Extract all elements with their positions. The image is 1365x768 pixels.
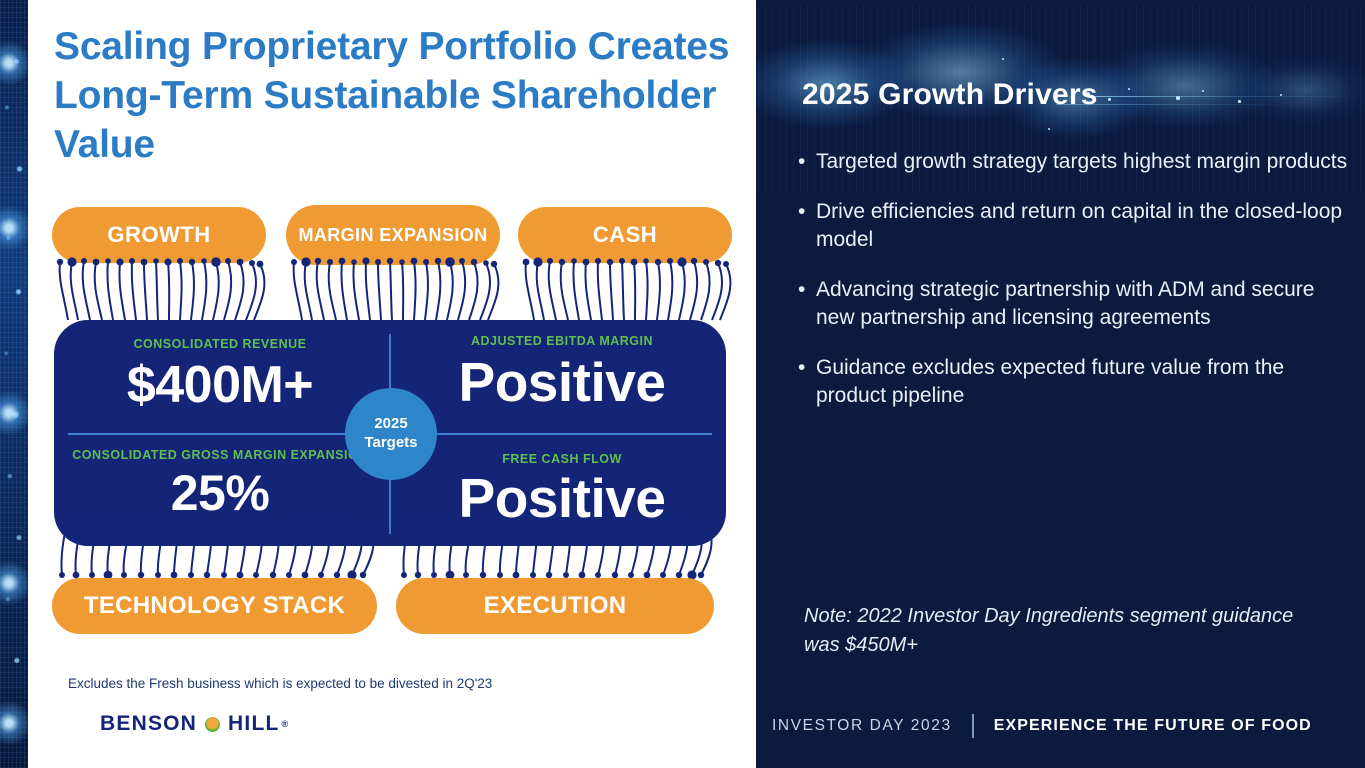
right-panel: 2025 Growth Drivers • Targeted growth st… xyxy=(756,0,1365,768)
metric-value: 25% xyxy=(60,464,380,522)
driver-pill-label: MARGIN EXPANSION xyxy=(298,225,487,245)
bullet-icon: • xyxy=(798,276,816,332)
driver-pill-label: CASH xyxy=(593,223,657,248)
sparkle-icon xyxy=(1176,96,1180,100)
list-item: • Targeted growth strategy targets highe… xyxy=(798,148,1354,176)
list-item-text: Guidance excludes expected future value … xyxy=(816,354,1354,410)
targets-badge-year: 2025 xyxy=(374,415,407,434)
page-title: Scaling Proprietary Portfolio Creates Lo… xyxy=(54,22,744,169)
list-item-text: Advancing strategic partnership with ADM… xyxy=(816,276,1354,332)
list-item-text: Targeted growth strategy targets highest… xyxy=(816,148,1354,176)
footer-event-label: INVESTOR DAY 2023 xyxy=(772,717,952,735)
company-logo: BENSON HILL ® xyxy=(100,712,289,736)
logo-word-hill: HILL xyxy=(228,712,279,736)
list-item: • Drive efficiencies and return on capit… xyxy=(798,198,1354,254)
root-tendrils-icon xyxy=(52,256,266,322)
driver-pill-label: TECHNOLOGY STACK xyxy=(84,593,345,620)
metric-value: $400M+ xyxy=(60,355,380,415)
targets-badge-label: Targets xyxy=(364,434,417,453)
sparkle-icon xyxy=(1238,100,1241,103)
slide-footer: INVESTOR DAY 2023 EXPERIENCE THE FUTURE … xyxy=(772,714,1312,738)
sparkle-icon xyxy=(1128,88,1130,90)
logo-registered-mark: ® xyxy=(282,719,290,729)
logo-seed-icon xyxy=(205,717,220,732)
targets-badge: 2025 Targets xyxy=(345,388,437,480)
metric-free-cash-flow: FREE CASH FLOW Positive xyxy=(402,452,722,530)
targets-panel: CONSOLIDATED REVENUE $400M+ ADJUSTED EBI… xyxy=(54,320,726,546)
bullet-icon: • xyxy=(798,198,816,254)
logo-word-benson: BENSON xyxy=(100,712,197,736)
list-item-text: Drive efficiencies and return on capital… xyxy=(816,198,1354,254)
guidance-note: Note: 2022 Investor Day Ingredients segm… xyxy=(804,602,1324,660)
sparkle-icon xyxy=(1280,94,1282,96)
driver-pill-cash[interactable]: CASH xyxy=(518,207,732,263)
right-panel-heading: 2025 Growth Drivers xyxy=(802,78,1098,112)
driver-pill-label: EXECUTION xyxy=(484,593,627,620)
bullet-icon: • xyxy=(798,148,816,176)
metric-adjusted-ebitda-margin: ADJUSTED EBITDA MARGIN Positive xyxy=(402,334,722,414)
root-tendrils-icon xyxy=(286,256,500,322)
sparkle-icon xyxy=(1002,58,1004,60)
light-beam-decoration xyxy=(1086,96,1356,97)
metric-consolidated-gross-margin-expansion: CONSOLIDATED GROSS MARGIN EXPANSION 25% xyxy=(60,448,380,522)
root-tendrils-icon xyxy=(518,256,732,322)
slide-footnote: Excludes the Fresh business which is exp… xyxy=(68,676,728,691)
left-edge-decoration xyxy=(0,0,28,768)
bullet-icon: • xyxy=(798,354,816,410)
list-item: • Advancing strategic partnership with A… xyxy=(798,276,1354,332)
list-item: • Guidance excludes expected future valu… xyxy=(798,354,1354,410)
driver-pill-label: GROWTH xyxy=(107,223,210,248)
driver-pill-execution[interactable]: EXECUTION xyxy=(396,578,714,634)
sparkle-icon xyxy=(1202,90,1204,92)
driver-pill-technology-stack[interactable]: TECHNOLOGY STACK xyxy=(52,578,377,634)
sparkle-icon xyxy=(1108,98,1111,101)
growth-drivers-list: • Targeted growth strategy targets highe… xyxy=(798,148,1354,431)
root-tendrils-icon xyxy=(52,515,377,581)
metric-value: Positive xyxy=(402,350,722,414)
content-card: Scaling Proprietary Portfolio Creates Lo… xyxy=(28,0,756,768)
footer-divider xyxy=(972,714,974,738)
sparkle-icon xyxy=(1048,128,1050,130)
footer-tagline: EXPERIENCE THE FUTURE OF FOOD xyxy=(994,717,1312,735)
slide-root: Scaling Proprietary Portfolio Creates Lo… xyxy=(0,0,1365,768)
metric-value: Positive xyxy=(402,466,722,530)
metric-label: ADJUSTED EBITDA MARGIN xyxy=(402,334,722,350)
driver-pill-growth[interactable]: GROWTH xyxy=(52,207,266,263)
metric-label: CONSOLIDATED REVENUE xyxy=(60,337,380,353)
metric-label: CONSOLIDATED GROSS MARGIN EXPANSION xyxy=(60,448,380,464)
metric-consolidated-revenue: CONSOLIDATED REVENUE $400M+ xyxy=(60,337,380,415)
